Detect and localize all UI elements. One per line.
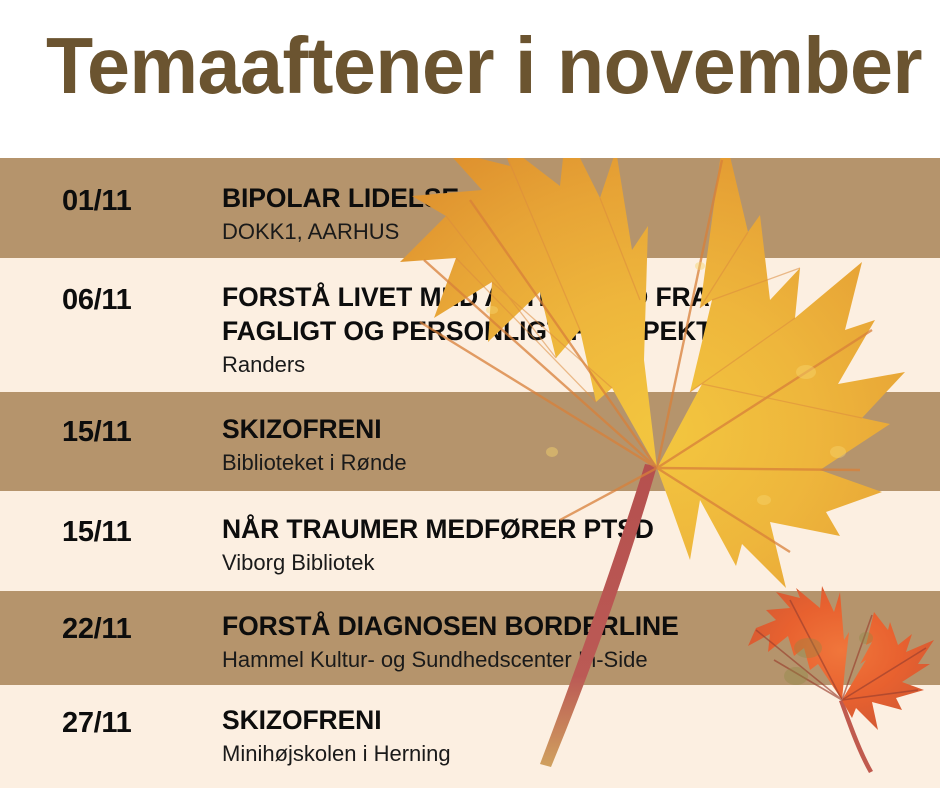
title-bar: Temaaftener i november [0,0,940,158]
event-text-block: SKIZOFRENI Biblioteket i Rønde [222,412,930,478]
event-title: NÅR TRAUMER MEDFØRER PTSD [222,512,930,546]
event-row: 15/11 NÅR TRAUMER MEDFØRER PTSD Viborg B… [0,491,940,591]
event-list: 01/11 BIPOLAR LIDELSE DOKK1, AARHUS 06/1… [0,158,940,788]
event-date: 22/11 [62,613,131,646]
event-title: SKIZOFRENI [222,703,930,737]
event-row: 15/11 SKIZOFRENI Biblioteket i Rønde [0,392,940,491]
event-text-block: BIPOLAR LIDELSE DOKK1, AARHUS [222,181,930,247]
event-location: DOKK1, AARHUS [222,217,930,247]
event-text-block: NÅR TRAUMER MEDFØRER PTSD Viborg Bibliot… [222,512,930,578]
event-title: BIPOLAR LIDELSE [222,181,930,215]
event-text-block: FORSTÅ DIAGNOSEN BORDERLINE Hammel Kultu… [222,609,930,675]
event-location: Hammel Kultur- og Sundhedscenter In-Side [222,645,930,675]
event-text-block: SKIZOFRENI Minihøjskolen i Herning [222,703,930,769]
event-date: 06/11 [62,284,131,317]
event-row: 06/11 FORSTÅ LIVET MED AUTISME UD FRA ET… [0,258,940,392]
event-date: 27/11 [62,707,131,740]
event-title: SKIZOFRENI [222,412,930,446]
event-row: 01/11 BIPOLAR LIDELSE DOKK1, AARHUS [0,158,940,258]
event-title: FORSTÅ LIVET MED AUTISME UD FRA ET FAGLI… [222,280,822,348]
event-poster: 01/11 BIPOLAR LIDELSE DOKK1, AARHUS 06/1… [0,0,940,788]
event-date: 15/11 [62,416,131,449]
event-date: 15/11 [62,516,131,549]
event-row: 27/11 SKIZOFRENI Minihøjskolen i Herning [0,685,940,788]
event-text-block: FORSTÅ LIVET MED AUTISME UD FRA ET FAGLI… [222,280,930,380]
page-title: Temaaftener i november [46,26,922,106]
event-row: 22/11 FORSTÅ DIAGNOSEN BORDERLINE Hammel… [0,591,940,685]
event-date: 01/11 [62,185,131,218]
event-title: FORSTÅ DIAGNOSEN BORDERLINE [222,609,930,643]
event-location: Biblioteket i Rønde [222,448,930,478]
event-location: Randers [222,350,930,380]
event-location: Minihøjskolen i Herning [222,739,930,769]
event-location: Viborg Bibliotek [222,548,930,578]
